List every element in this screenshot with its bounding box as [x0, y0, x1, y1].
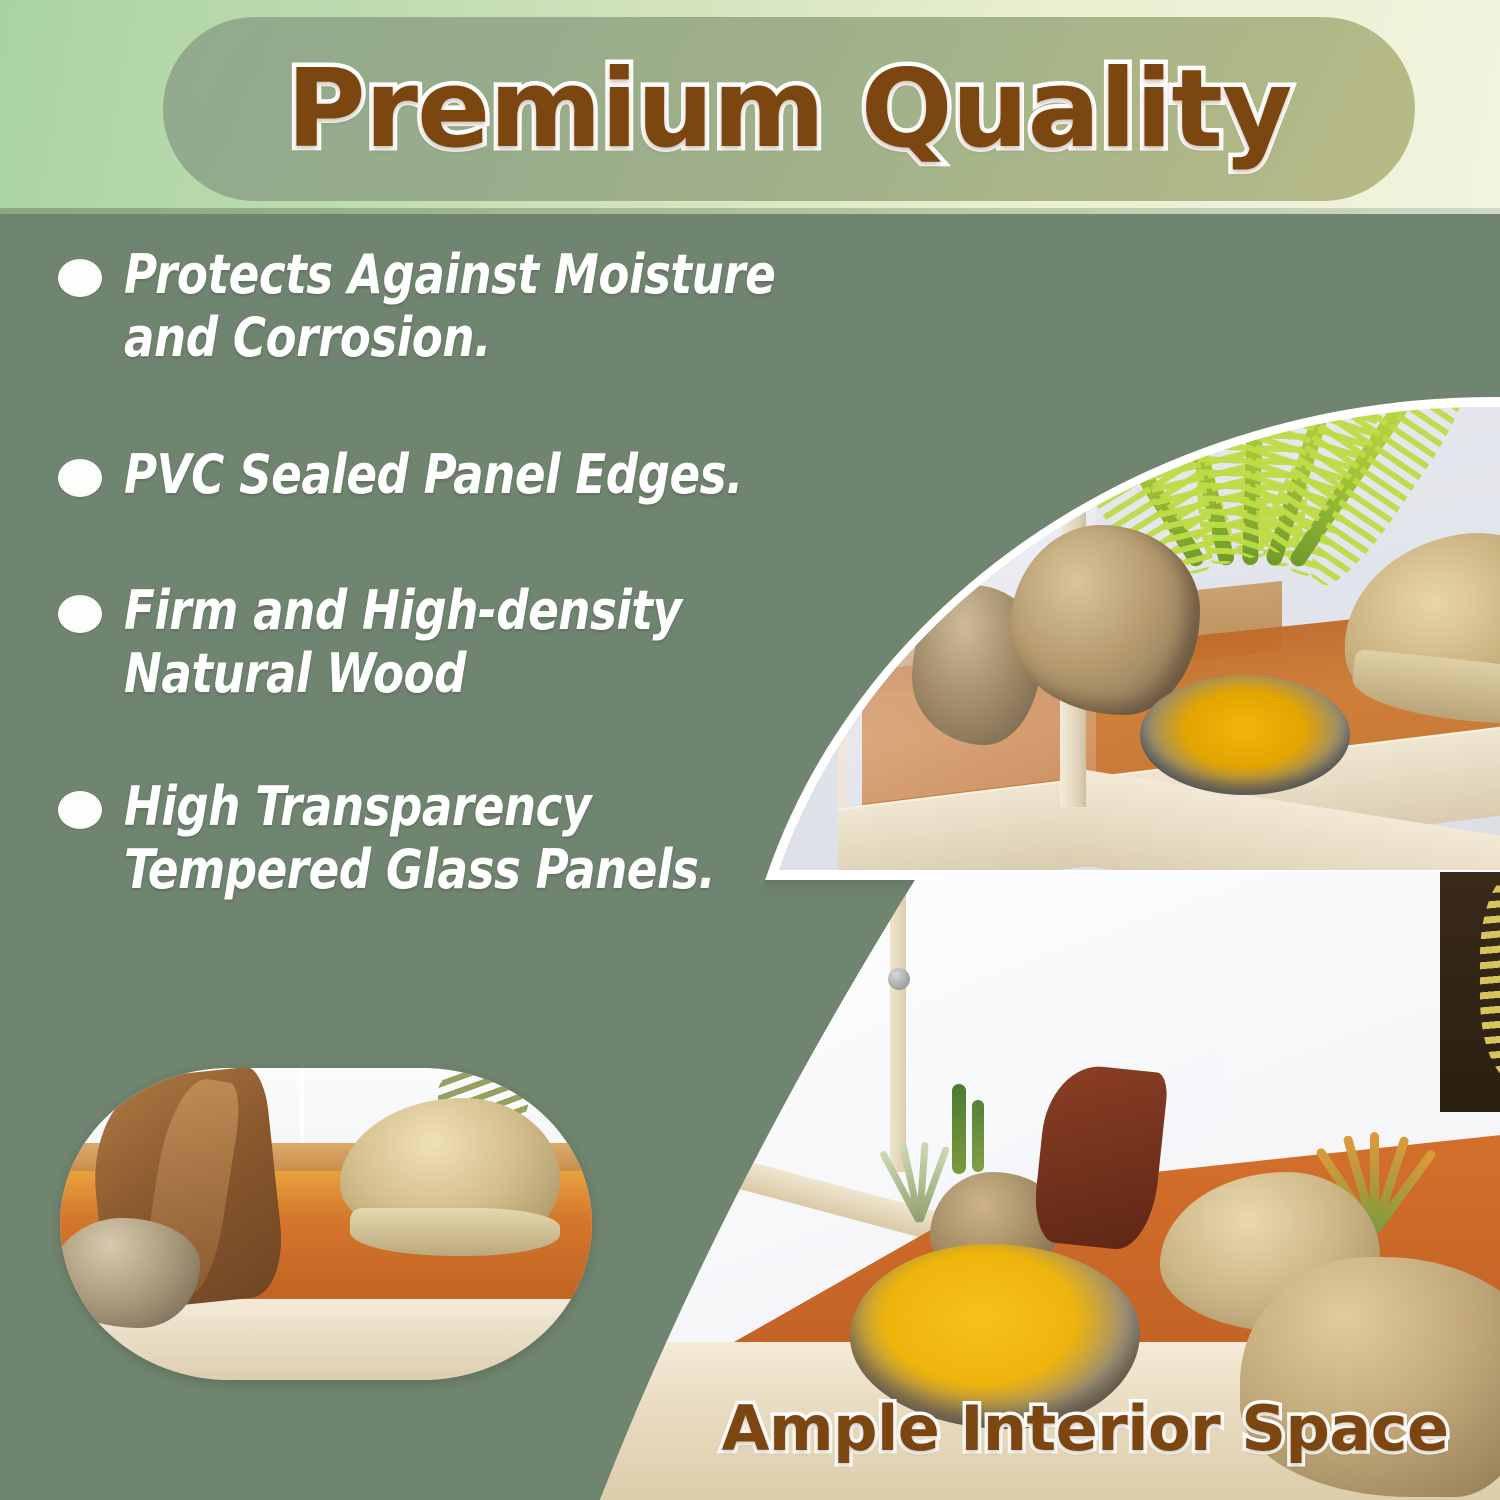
feature-text-tempered-glass: High Transparency Tempered Glass Panels. — [124, 775, 797, 901]
feature-text-moisture: Protects Against Moisture and Corrosion. — [124, 243, 797, 369]
dinosaur-jaw-decor — [350, 1208, 560, 1256]
rock-decor-main — [1010, 525, 1200, 715]
fern-plant-icon — [1082, 235, 1402, 565]
list-item: PVC Sealed Panel Edges. — [58, 443, 848, 506]
cactus-plant-icon — [972, 1100, 984, 1172]
product-infographic: Premium Quality Protects Against Moistur… — [0, 0, 1500, 1500]
terrarium-corner-photo — [742, 205, 1500, 870]
rock-decor-main — [60, 1218, 200, 1328]
dot-bullet-icon — [58, 791, 102, 829]
feature-text-pvc-edges: PVC Sealed Panel Edges. — [124, 443, 743, 506]
list-item: High Transparency Tempered Glass Panels. — [58, 775, 848, 901]
dot-bullet-icon — [58, 595, 102, 633]
list-item: Protects Against Moisture and Corrosion. — [58, 243, 848, 369]
terrarium-corner-scene — [742, 205, 1500, 870]
feature-list: Protects Against Moisture and Corrosion.… — [58, 243, 848, 901]
feature-text-natural-wood: Firm and High-density Natural Wood — [124, 579, 797, 705]
feeding-dish-decor — [1140, 675, 1350, 795]
dot-bullet-icon — [58, 259, 102, 297]
list-item: Firm and High-density Natural Wood — [58, 579, 848, 705]
cactus-plant-icon — [952, 1084, 966, 1174]
dot-bullet-icon — [58, 459, 102, 497]
header-band: Premium Quality — [0, 0, 1500, 214]
screw-icon — [888, 968, 910, 990]
terrarium-closeup-oval-photo — [60, 1068, 592, 1380]
page-title: Premium Quality — [163, 17, 1415, 201]
bottom-caption: Ample Interior Space — [690, 1382, 1480, 1474]
